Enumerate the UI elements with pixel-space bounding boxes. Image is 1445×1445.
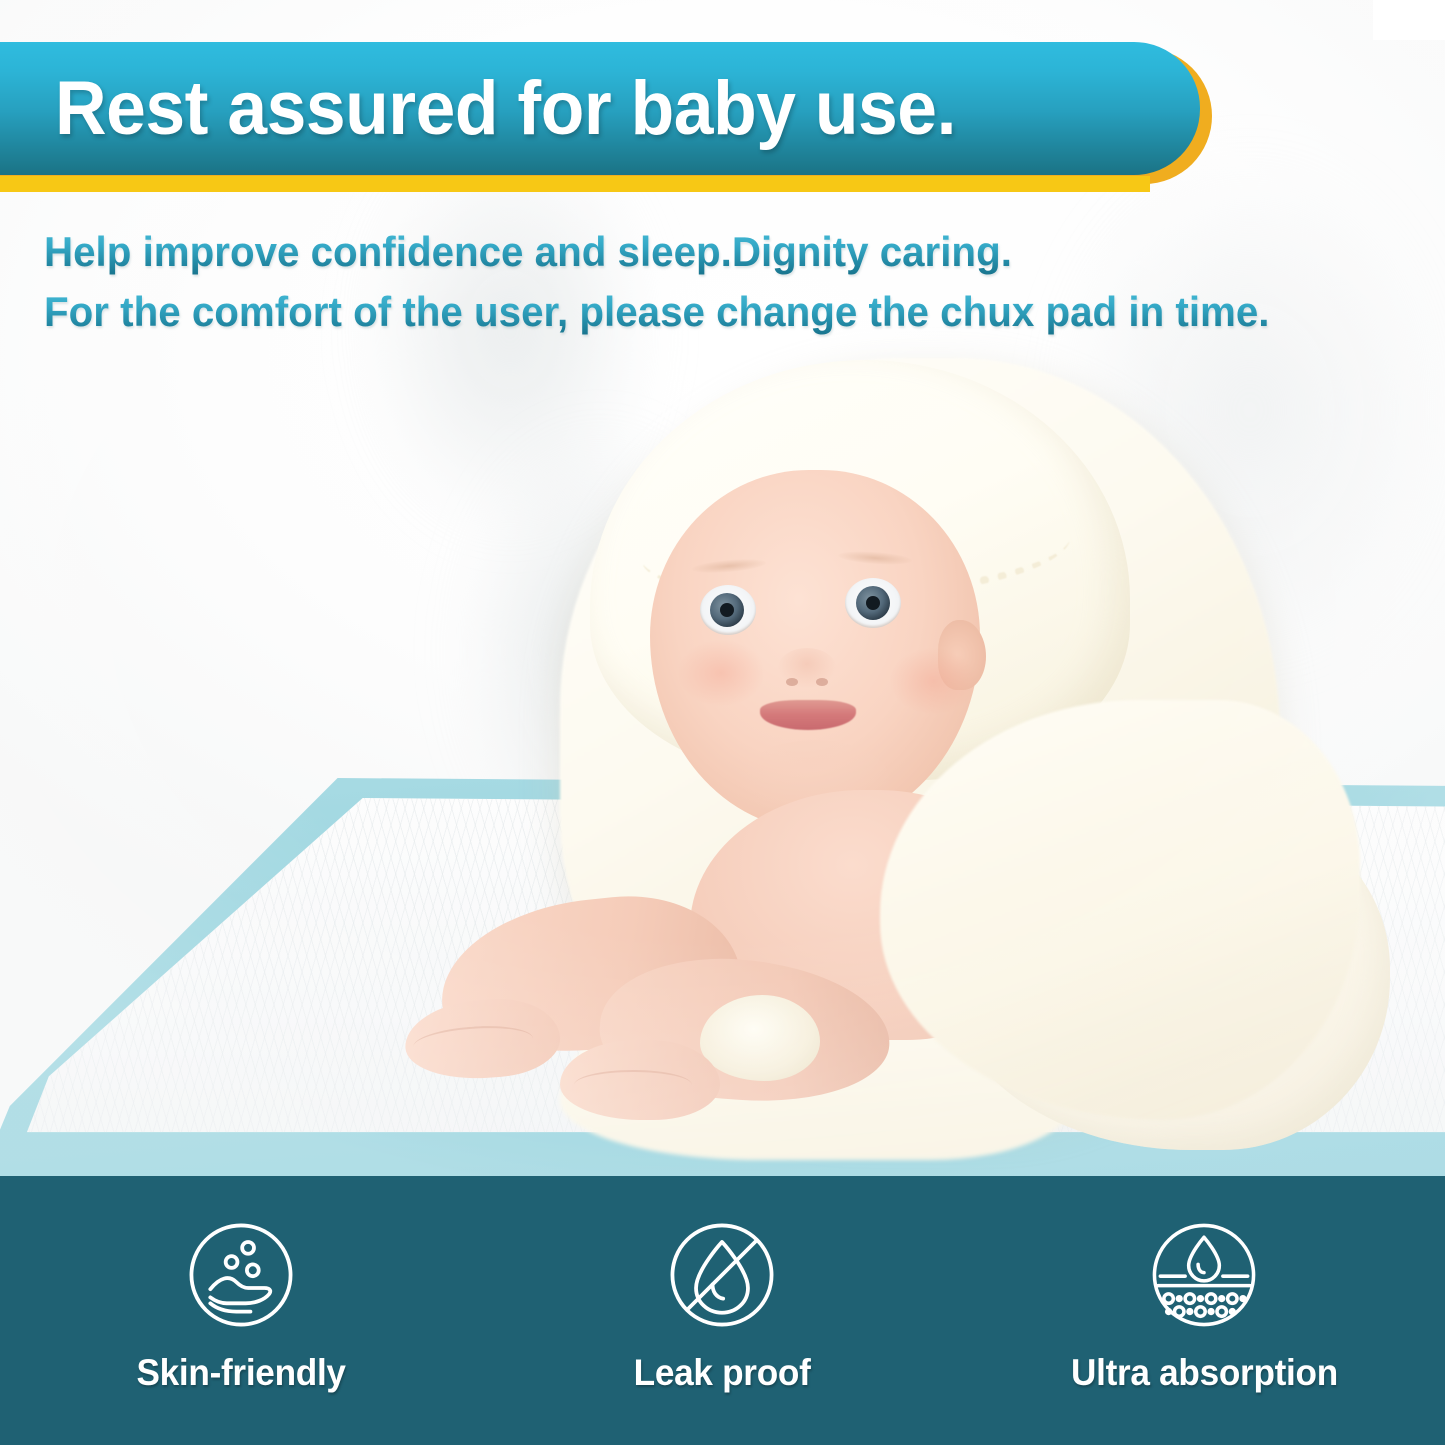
subtitle-line-2: For the comfort of the user, please chan… [44, 282, 1359, 342]
skin-friendly-icon [182, 1216, 300, 1334]
feature-label: Leak proof [634, 1352, 811, 1394]
ultra-absorption-icon [1145, 1216, 1263, 1334]
corner-notch [1373, 0, 1445, 40]
baby-nostril-left [786, 678, 798, 686]
baby-cheek-right [890, 648, 976, 714]
towel-knot [700, 995, 820, 1081]
header-banner: Rest assured for baby use. [0, 42, 1200, 175]
feature-item-leak-proof: Leak proof [512, 1216, 932, 1394]
product-infographic: Rest assured for baby use. Help improve … [0, 0, 1445, 1445]
feature-bar: Skin-friendly Leak proof [0, 1176, 1445, 1445]
baby-hand-left [402, 995, 562, 1084]
page-title: Rest assured for baby use. [55, 71, 956, 147]
feature-item-skin-friendly: Skin-friendly [31, 1216, 451, 1394]
baby-pupil-right [866, 596, 880, 610]
feature-label: Skin-friendly [136, 1352, 345, 1394]
subtitle-line-1: Help improve confidence and sleep.Dignit… [44, 222, 1359, 282]
baby-nostril-right [816, 678, 828, 686]
banner-accent-bar [0, 176, 1150, 192]
subtitle-block: Help improve confidence and sleep.Dignit… [44, 222, 1414, 342]
baby-hand-right [560, 1040, 720, 1120]
leak-proof-icon [663, 1216, 781, 1334]
feature-item-ultra-absorption: Ultra absorption [994, 1216, 1414, 1394]
baby-pupil-left [720, 603, 734, 617]
baby-cheek-left [678, 640, 764, 706]
feature-label: Ultra absorption [1071, 1352, 1338, 1394]
